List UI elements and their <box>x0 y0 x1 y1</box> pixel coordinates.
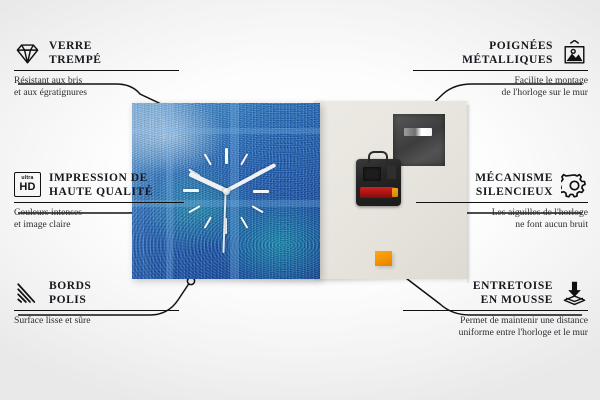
callout-header: POIGNÉES MÉTALLIQUES <box>413 40 588 67</box>
picture-frame-hanger-icon <box>561 40 588 67</box>
callout-impression-haute-qualite: ultra HD IMPRESSION DE HAUTE QUALITÉ Cou… <box>14 172 184 231</box>
clock-mechanism <box>356 159 401 206</box>
callout-sub-line2: uniforme entre l'horloge et le mur <box>403 327 588 339</box>
ultra-hd-icon-main-text: HD <box>19 182 35 193</box>
battery <box>360 187 395 198</box>
callout-title: POIGNÉES MÉTALLIQUES <box>462 40 553 67</box>
callout-divider <box>14 70 179 71</box>
diamond-icon <box>14 40 41 67</box>
callout-subtitle: Couleurs intenses et image claire <box>14 207 184 230</box>
callout-title-line2: HAUTE QUALITÉ <box>49 186 153 200</box>
callout-sub-line1: Facilite le montage <box>413 75 588 87</box>
callout-title-line2: TREMPÉ <box>49 54 102 68</box>
callout-sub-line1: Les aiguilles de l'horloge <box>416 207 588 219</box>
callout-divider <box>14 202 184 203</box>
foam-spacer <box>375 251 392 266</box>
metallic-hanger-plate <box>393 114 445 166</box>
callout-title: ENTRETOISE EN MOUSSE <box>473 280 553 307</box>
callout-sub-line2: ne font aucun bruit <box>416 219 588 231</box>
callout-title-line2: EN MOUSSE <box>473 294 553 308</box>
callout-title-line2: MÉTALLIQUES <box>462 54 553 68</box>
callout-bords-polis: BORDS POLIS Surface lisse et sûre <box>14 280 179 327</box>
callout-title: IMPRESSION DE HAUTE QUALITÉ <box>49 172 153 199</box>
callout-sub-line2: et aux égratignures <box>14 87 179 99</box>
callout-title-line1: ENTRETOISE <box>473 280 553 294</box>
mechanism-label <box>363 167 381 181</box>
callout-header: ultra HD IMPRESSION DE HAUTE QUALITÉ <box>14 172 184 199</box>
callout-sub-line1: Surface lisse et sûre <box>14 315 179 327</box>
callout-sub-line2: et image claire <box>14 219 184 231</box>
callout-subtitle: Résistant aux bris et aux égratignures <box>14 75 179 98</box>
callout-title-line2: POLIS <box>49 294 91 308</box>
callout-subtitle: Surface lisse et sûre <box>14 315 179 327</box>
mechanism-hanger-loop <box>368 151 388 163</box>
callout-sub-line2: de l'horloge sur le mur <box>413 87 588 99</box>
callout-title-line1: VERRE <box>49 40 102 54</box>
polished-edges-icon <box>14 280 41 307</box>
callout-divider <box>413 70 588 71</box>
callout-subtitle: Permet de maintenir une distance uniform… <box>403 315 588 338</box>
callout-title-line2: SILENCIEUX <box>475 186 553 200</box>
callout-title: VERRE TREMPÉ <box>49 40 102 67</box>
callout-sub-line1: Couleurs intenses <box>14 207 184 219</box>
callout-verre-trempe: VERRE TREMPÉ Résistant aux bris et aux é… <box>14 40 179 99</box>
callout-title: BORDS POLIS <box>49 280 91 307</box>
callout-title-line1: POIGNÉES <box>462 40 553 54</box>
ultra-hd-icon: ultra HD <box>14 172 41 199</box>
infographic-stage: VERRE TREMPÉ Résistant aux bris et aux é… <box>0 0 600 400</box>
callout-header: VERRE TREMPÉ <box>14 40 179 67</box>
callout-subtitle: Les aiguilles de l'horloge ne font aucun… <box>416 207 588 230</box>
hands-pivot <box>223 188 230 195</box>
callout-title: MÉCANISME SILENCIEUX <box>475 172 553 199</box>
arrow-onto-layers-icon <box>561 280 588 307</box>
callout-entretoise-en-mousse: ENTRETOISE EN MOUSSE Permet de maintenir… <box>403 280 588 339</box>
callout-divider <box>14 310 179 311</box>
callout-header: BORDS POLIS <box>14 280 179 307</box>
callout-sub-line1: Résistant aux bris <box>14 75 179 87</box>
callout-title-line1: MÉCANISME <box>475 172 553 186</box>
callout-sub-line1: Permet de maintenir une distance <box>403 315 588 327</box>
callout-divider <box>416 202 588 203</box>
callout-mecanisme-silencieux: MÉCANISME SILENCIEUX Les aiguilles de l'… <box>416 172 588 231</box>
callout-title-line1: BORDS <box>49 280 91 294</box>
callout-header: MÉCANISME SILENCIEUX <box>416 172 588 199</box>
callout-subtitle: Facilite le montage de l'horloge sur le … <box>413 75 588 98</box>
mechanism-knob <box>387 165 396 179</box>
callout-title-line1: IMPRESSION DE <box>49 172 153 186</box>
hanger-slot <box>404 128 432 136</box>
callout-header: ENTRETOISE EN MOUSSE <box>403 280 588 307</box>
callout-poignees-metalliques: POIGNÉES MÉTALLIQUES Facilite le montage… <box>413 40 588 99</box>
gear-icon <box>561 172 588 199</box>
callout-divider <box>403 310 588 311</box>
